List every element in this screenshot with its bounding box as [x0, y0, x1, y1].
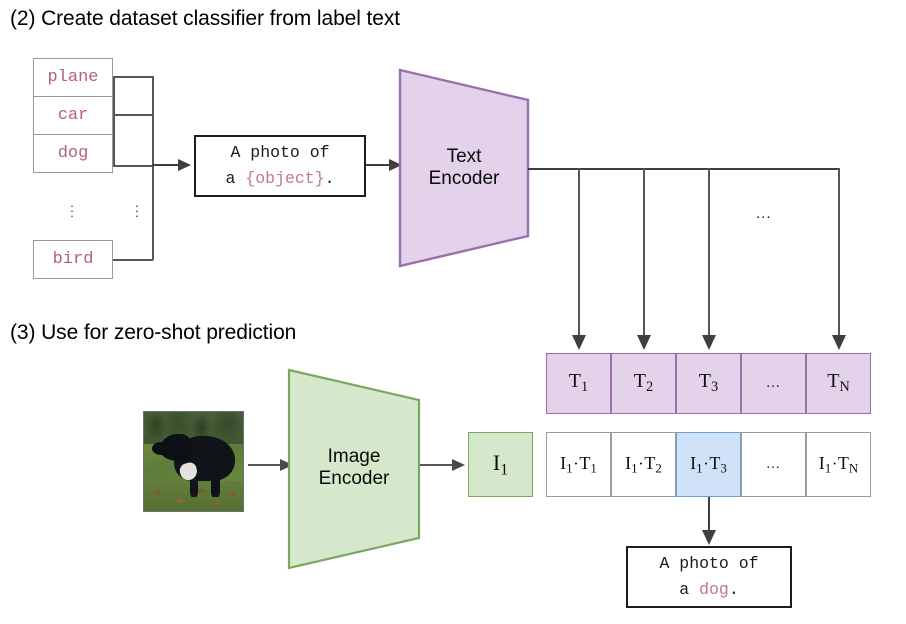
similarity-cell-ellipsis: ...	[741, 432, 806, 497]
cell-text: ...	[766, 456, 780, 473]
bus-drop-1-line	[578, 168, 580, 341]
connector-bracket-spine	[152, 76, 154, 260]
bus-drop-3-line	[708, 168, 710, 341]
bus-horizontal-line	[528, 168, 838, 170]
text-encoder-shape[interactable]	[398, 68, 530, 268]
similarity-cell-2[interactable]: I1·T2	[611, 432, 676, 497]
cell-text: T3	[699, 370, 718, 396]
label-text: dog	[58, 144, 89, 163]
image-embedding-text: I1	[493, 450, 508, 479]
connector-dog-stub	[113, 165, 153, 167]
photo-dog-leg-rear	[211, 471, 220, 497]
cell-text: T2	[634, 370, 653, 396]
text-embedding-cell-1[interactable]: T1	[546, 353, 611, 414]
bracket-column-ellipsis-icon: ...	[128, 200, 146, 215]
label-box-car[interactable]: car	[33, 96, 113, 135]
label-text: car	[58, 106, 89, 125]
arrow-image-encoder-to-embedding-head	[452, 457, 468, 473]
prediction-output-box[interactable]: A photo of a dog.	[626, 546, 792, 608]
prompt-suffix: .	[325, 169, 335, 188]
bus-drop-3-arrowhead	[701, 335, 717, 353]
similarity-cell-n[interactable]: I1·TN	[806, 432, 871, 497]
input-photo[interactable]	[143, 411, 244, 512]
heading-step-2: (2) Create dataset classifier from label…	[10, 8, 400, 29]
label-text: plane	[47, 68, 98, 87]
arrow-photo-to-image-encoder-line	[248, 464, 284, 466]
prompt-line-1: A photo of	[230, 140, 329, 166]
cell-text: I1·T2	[625, 453, 662, 477]
text-embedding-cell-ellipsis: ...	[741, 353, 806, 414]
label-box-bird[interactable]: bird	[33, 240, 113, 279]
label-box-plane[interactable]: plane	[33, 58, 113, 97]
similarity-cell-3-selected[interactable]: I1·T3	[676, 432, 741, 497]
bus-drop-1-arrowhead	[571, 335, 587, 353]
arrow-image-encoder-to-embedding-line	[420, 464, 456, 466]
cell-text: I1·T3	[690, 453, 727, 477]
prompt-placeholder-token: {object}	[245, 169, 324, 188]
cell-text: ...	[766, 375, 780, 392]
cell-text: T1	[569, 370, 588, 396]
connector-car-stub	[113, 114, 153, 116]
output-prefix: a	[679, 580, 699, 599]
output-line-1: A photo of	[659, 551, 758, 577]
label-box-dog[interactable]: dog	[33, 134, 113, 173]
image-embedding-box[interactable]: I1	[468, 432, 533, 497]
prompt-line-2: a {object}.	[226, 166, 335, 192]
cell-text: I1·T1	[560, 453, 597, 477]
photo-dog-snout	[152, 442, 170, 455]
output-line-2: a dog.	[679, 577, 738, 603]
connector-plane-stub	[113, 76, 153, 78]
label-text: bird	[53, 250, 94, 269]
prompt-template-box[interactable]: A photo of a {object}.	[194, 135, 366, 197]
text-embedding-cell-3[interactable]: T3	[676, 353, 741, 414]
label-column-ellipsis-icon: ...	[63, 200, 81, 215]
connector-bird-stub	[113, 259, 153, 261]
bus-ellipsis-label: ...	[756, 205, 772, 222]
arrow-labels-to-prompt-head	[178, 157, 194, 173]
cell-text: I1·TN	[819, 453, 859, 477]
bus-drop-2-line	[643, 168, 645, 341]
output-suffix: .	[729, 580, 739, 599]
text-embedding-cell-2[interactable]: T2	[611, 353, 676, 414]
heading-step-3: (3) Use for zero-shot prediction	[10, 322, 296, 343]
prompt-prefix: a	[226, 169, 246, 188]
bus-drop-2-arrowhead	[636, 335, 652, 353]
bus-drop-4-arrowhead	[831, 335, 847, 353]
bus-drop-4-line	[838, 168, 840, 341]
image-encoder-shape[interactable]	[287, 368, 421, 570]
connector-inner-spine	[113, 76, 115, 166]
cell-text: TN	[827, 370, 850, 396]
output-predicted-class: dog	[699, 580, 729, 599]
similarity-cell-1[interactable]: I1·T1	[546, 432, 611, 497]
diagram-canvas: (2) Create dataset classifier from label…	[0, 0, 906, 624]
text-embedding-cell-n[interactable]: TN	[806, 353, 871, 414]
